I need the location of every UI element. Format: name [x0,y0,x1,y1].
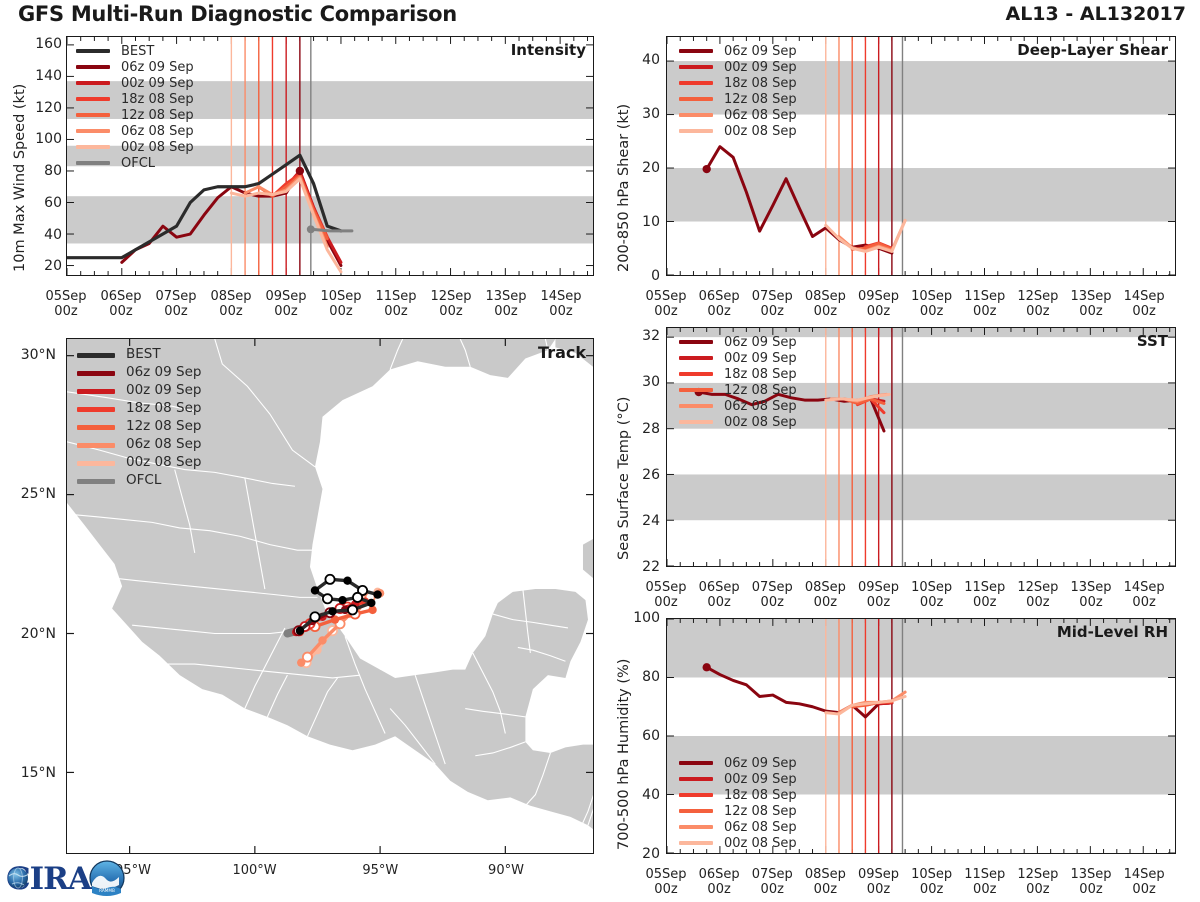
x-tick-label: 07Sep00z [752,868,793,897]
legend-swatch [77,443,115,448]
legend-item-18z-08-sep: 18z 08 Sep [679,366,797,382]
legend-item-18z-08-sep: 18z 08 Sep [679,787,797,803]
intensity-panel: Intensity BEST06z 09 Sep00z 09 Sep18z 08… [66,36,594,276]
x-tick-label: 07Sep00z [155,290,196,319]
legend-label: BEST [121,45,154,58]
x-tick-label: 07Sep00z [752,290,793,319]
shear-y-ticks: 010203040 [612,36,660,276]
intensity-band [667,474,1175,520]
rh-legend: 06z 09 Sep00z 09 Sep18z 08 Sep12z 08 Sep… [679,755,797,851]
legend-swatch [679,65,713,70]
legend-item-00z-08-sep: 00z 08 Sep [679,123,797,139]
y-tick-label: 0 [651,268,660,284]
track-position-marker [318,636,326,644]
cira-logo: CIRA RAMMB [4,856,132,898]
x-tick-label: 09Sep00z [265,290,306,319]
track-position-marker [325,575,334,584]
legend-label: OFCL [126,474,161,488]
y-tick-label: 120 [35,100,62,116]
y-tick-label: 20 [44,258,62,274]
legend-swatch [679,340,713,345]
y-tick-label: 30 [642,374,660,390]
intensity-y-ticks: 20406080100120140160 [10,36,62,276]
legend-item-06z-09-sep: 06z 09 Sep [679,755,797,771]
svg-text:RAMMB: RAMMB [99,888,115,893]
legend-swatch [679,420,713,425]
x-tick-label: 13Sep00z [1070,290,1111,319]
legend-item-18z-08-sep: 18z 08 Sep [679,75,797,91]
legend-label: 18z 08 Sep [126,402,201,416]
intensity-x-ticks: 05Sep00z06Sep00z07Sep00z08Sep00z09Sep00z… [66,283,594,317]
legend-item-00z-09-sep: 00z 09 Sep [77,382,201,400]
legend-swatch [76,49,110,54]
legend-item-00z-08-sep: 00z 08 Sep [679,414,797,430]
legend-label: 12z 08 Sep [121,109,194,122]
x-tick-label: 06Sep00z [699,868,740,897]
x-tick-label: 14Sep00z [1124,868,1165,897]
track-position-marker [328,607,336,615]
x-tick-label: 06Sep00z [699,581,740,610]
legend-item-12z-08-sep: 12z 08 Sep [76,107,194,123]
y-tick-label: 32 [642,328,660,344]
y-tick-label: 10 [642,214,660,230]
x-tick-label: 14Sep00z [1124,290,1165,319]
y-tick-label: 80 [642,669,660,685]
shear-x-ticks: 05Sep00z06Sep00z07Sep00z08Sep00z09Sep00z… [666,283,1176,317]
rh-panel: Mid-Level RH 06z 09 Sep00z 09 Sep18z 08 … [666,618,1176,854]
rh-x-ticks: 05Sep00z06Sep00z07Sep00z08Sep00z09Sep00z… [666,861,1176,895]
rh-y-ticks: 20406080100 [612,618,660,854]
x-tick-label: 05Sep00z [645,868,686,897]
legend-label: BEST [126,348,161,362]
legend-swatch [679,113,713,118]
legend-label: 00z 08 Sep [724,837,797,850]
x-tick-label: 07Sep00z [752,581,793,610]
track-position-marker [311,586,319,594]
y-tick-label: 22 [642,559,660,575]
legend-item-18z-08-sep: 18z 08 Sep [76,91,194,107]
x-tick-label: 10Sep00z [320,290,361,319]
shear-panel: Deep-Layer Shear 06z 09 Sep00z 09 Sep18z… [666,36,1176,276]
legend-swatch [679,809,713,814]
legend-item-06z-08-sep: 06z 08 Sep [679,107,797,123]
legend-item-00z-09-sep: 00z 09 Sep [679,350,797,366]
sst-panel: SST 06z 09 Sep00z 09 Sep18z 08 Sep12z 08… [666,327,1176,567]
legend-swatch [679,372,713,377]
legend-item-18z-08-sep: 18z 08 Sep [77,400,201,418]
x-tick-label: 09Sep00z [858,868,899,897]
y-tick-label: 100 [35,131,62,147]
y-tick-label: 80 [44,163,62,179]
track-position-marker [368,606,376,614]
legend-swatch [76,145,110,150]
legend-swatch [679,388,713,393]
track-y-ticks: 30°N25°N20°N15°N [2,338,62,854]
x-tick-label: 13Sep00z [1070,868,1111,897]
y-tick-label: 28 [642,421,660,437]
legend-item-best: BEST [77,346,201,364]
x-tick-label: 14Sep00z [1124,581,1165,610]
x-tick-label: 05Sep00z [45,290,86,319]
x-tick-label: 14Sep00z [540,290,581,319]
track-position-marker [338,596,346,604]
page-title: GFS Multi-Run Diagnostic Comparison [18,2,457,26]
legend-swatch [679,825,713,830]
y-tick-label: 20 [642,846,660,862]
latest-run-marker [703,663,711,671]
legend-item-best: BEST [76,43,194,59]
shear-panel-tag: Deep-Layer Shear [1017,41,1168,59]
legend-item-12z-08-sep: 12z 08 Sep [679,382,797,398]
legend-swatch [76,65,110,70]
legend-swatch [76,97,110,102]
x-tick-label: 10Sep00z [911,581,952,610]
legend-swatch [679,81,713,86]
latitude-tick-label: 25°N [21,486,56,502]
legend-item-06z-09-sep: 06z 09 Sep [679,334,797,350]
legend-label: 12z 08 Sep [724,93,797,106]
legend-label: OFCL [121,157,155,170]
x-tick-label: 11Sep00z [375,290,416,319]
cira-logo-svg: CIRA RAMMB [4,856,132,898]
x-tick-label: 13Sep00z [485,290,526,319]
y-tick-label: 100 [633,610,660,626]
x-tick-label: 08Sep00z [805,581,846,610]
legend-swatch [77,371,115,376]
legend-label: 00z 09 Sep [724,352,797,365]
y-tick-label: 140 [35,68,62,84]
legend-label: 18z 08 Sep [121,93,194,106]
legend-item-06z-08-sep: 06z 08 Sep [679,398,797,414]
track-position-marker [323,594,332,603]
longitude-tick-label: 90°W [488,864,524,879]
y-tick-label: 30 [642,106,660,122]
x-tick-label: 05Sep00z [645,290,686,319]
legend-item-06z-09-sep: 06z 09 Sep [76,59,194,75]
legend-label: 00z 09 Sep [121,77,194,90]
series-ofcl [311,229,352,231]
x-tick-label: 13Sep00z [1070,581,1111,610]
legend-item-06z-08-sep: 06z 08 Sep [76,123,194,139]
legend-label: 06z 08 Sep [126,438,201,452]
track-x-ticks: 105°W100°W95°W90°W [66,860,594,884]
legend-item-00z-08-sep: 00z 08 Sep [76,139,194,155]
intensity-band [67,196,593,243]
legend-label: 06z 09 Sep [126,366,201,380]
legend-label: 18z 08 Sep [724,789,797,802]
storm-id-label: AL13 - AL132017 [1006,3,1187,25]
legend-label: 06z 08 Sep [724,109,797,122]
legend-item-ofcl: OFCL [77,472,201,490]
legend-swatch [76,129,110,134]
legend-label: 12z 08 Sep [724,384,797,397]
x-tick-label: 12Sep00z [1017,868,1058,897]
latitude-tick-label: 30°N [21,347,56,363]
legend-item-00z-08-sep: 00z 08 Sep [679,835,797,851]
legend-item-06z-09-sep: 06z 09 Sep [77,364,201,382]
legend-label: 00z 09 Sep [724,61,797,74]
legend-swatch [679,841,713,846]
legend-label: 00z 08 Sep [121,141,194,154]
y-tick-label: 24 [642,513,660,529]
track-legend: BEST06z 09 Sep00z 09 Sep18z 08 Sep12z 08… [77,346,201,490]
legend-label: 00z 08 Sep [724,416,797,429]
intensity-band [667,168,1175,221]
legend-label: 06z 08 Sep [724,400,797,413]
x-tick-label: 06Sep00z [699,290,740,319]
legend-label: 00z 09 Sep [724,773,797,786]
rh-panel-tag: Mid-Level RH [1057,623,1168,641]
sst-legend: 06z 09 Sep00z 09 Sep18z 08 Sep12z 08 Sep… [679,334,797,430]
legend-item-00z-09-sep: 00z 09 Sep [679,59,797,75]
legend-swatch [77,479,115,484]
x-tick-label: 11Sep00z [964,581,1005,610]
track-position-marker [310,612,319,621]
y-tick-label: 160 [35,36,62,52]
longitude-tick-label: 100°W [232,864,276,879]
legend-swatch [76,81,110,86]
legend-item-ofcl: OFCL [76,155,194,171]
legend-item-00z-09-sep: 00z 09 Sep [76,75,194,91]
legend-label: 12z 08 Sep [724,805,797,818]
legend-label: 12z 08 Sep [126,420,201,434]
legend-swatch [679,129,713,134]
track-position-marker [348,605,357,614]
legend-label: 00z 09 Sep [126,384,201,398]
x-tick-label: 08Sep00z [210,290,251,319]
legend-swatch [76,161,110,166]
y-tick-label: 60 [44,195,62,211]
longitude-tick-label: 95°W [362,864,398,879]
legend-label: 18z 08 Sep [724,77,797,90]
x-tick-label: 08Sep00z [805,290,846,319]
track-position-marker [353,593,362,602]
legend-swatch [77,353,115,358]
legend-item-00z-08-sep: 00z 08 Sep [77,454,201,472]
legend-swatch [679,97,713,102]
track-position-marker [296,627,304,635]
y-tick-label: 26 [642,467,660,483]
x-tick-label: 12Sep00z [430,290,471,319]
legend-item-12z-08-sep: 12z 08 Sep [679,91,797,107]
legend-swatch [679,777,713,782]
legend-item-06z-09-sep: 06z 09 Sep [679,43,797,59]
y-tick-label: 20 [642,160,660,176]
x-tick-label: 12Sep00z [1017,581,1058,610]
legend-label: 18z 08 Sep [724,368,797,381]
sst-x-ticks: 05Sep00z06Sep00z07Sep00z08Sep00z09Sep00z… [666,574,1176,608]
legend-swatch [77,407,115,412]
legend-label: 06z 08 Sep [121,125,194,138]
shear-legend: 06z 09 Sep00z 09 Sep18z 08 Sep12z 08 Sep… [679,43,797,139]
intensity-legend: BEST06z 09 Sep00z 09 Sep18z 08 Sep12z 08… [76,43,194,171]
ofcl-marker [307,225,315,233]
legend-swatch [77,389,115,394]
sst-y-ticks: 222426283032 [612,327,660,567]
x-tick-label: 11Sep00z [964,868,1005,897]
x-tick-label: 09Sep00z [858,290,899,319]
intensity-panel-tag: Intensity [511,41,586,59]
x-tick-label: 06Sep00z [100,290,141,319]
legend-label: 06z 09 Sep [724,336,797,349]
y-tick-label: 40 [44,227,62,243]
latitude-tick-label: 20°N [21,626,56,642]
legend-swatch [679,761,713,766]
track-position-marker [343,577,351,585]
x-tick-label: 10Sep00z [911,868,952,897]
y-tick-label: 40 [642,52,660,68]
legend-label: 06z 09 Sep [724,45,797,58]
x-tick-label: 08Sep00z [805,868,846,897]
legend-swatch [76,113,110,118]
track-position-marker [373,590,381,598]
legend-item-06z-08-sep: 06z 08 Sep [77,436,201,454]
legend-swatch [77,461,115,466]
legend-swatch [77,425,115,430]
track-panel-tag: Track [538,343,586,362]
legend-swatch [679,793,713,798]
x-tick-label: 10Sep00z [911,290,952,319]
track-panel: Track BEST06z 09 Sep00z 09 Sep18z 08 Sep… [66,338,594,854]
track-position-marker [297,658,305,666]
latest-run-marker [703,165,711,173]
legend-label: 06z 09 Sep [724,757,797,770]
x-tick-label: 05Sep00z [645,581,686,610]
legend-item-12z-08-sep: 12z 08 Sep [77,418,201,436]
sst-panel-tag: SST [1137,332,1168,350]
legend-swatch [679,356,713,361]
track-position-marker [367,599,375,607]
legend-label: 00z 08 Sep [126,456,201,470]
legend-swatch [679,404,713,409]
legend-label: 06z 09 Sep [121,61,194,74]
legend-swatch [679,49,713,54]
legend-label: 06z 08 Sep [724,821,797,834]
y-tick-label: 60 [642,728,660,744]
latest-run-marker [296,167,304,175]
x-tick-label: 12Sep00z [1017,290,1058,319]
legend-item-06z-08-sep: 06z 08 Sep [679,819,797,835]
y-tick-label: 40 [642,787,660,803]
legend-item-12z-08-sep: 12z 08 Sep [679,803,797,819]
x-tick-label: 09Sep00z [858,581,899,610]
x-tick-label: 11Sep00z [964,290,1005,319]
legend-item-00z-09-sep: 00z 09 Sep [679,771,797,787]
legend-label: 00z 08 Sep [724,125,797,138]
latitude-tick-label: 15°N [21,765,56,781]
